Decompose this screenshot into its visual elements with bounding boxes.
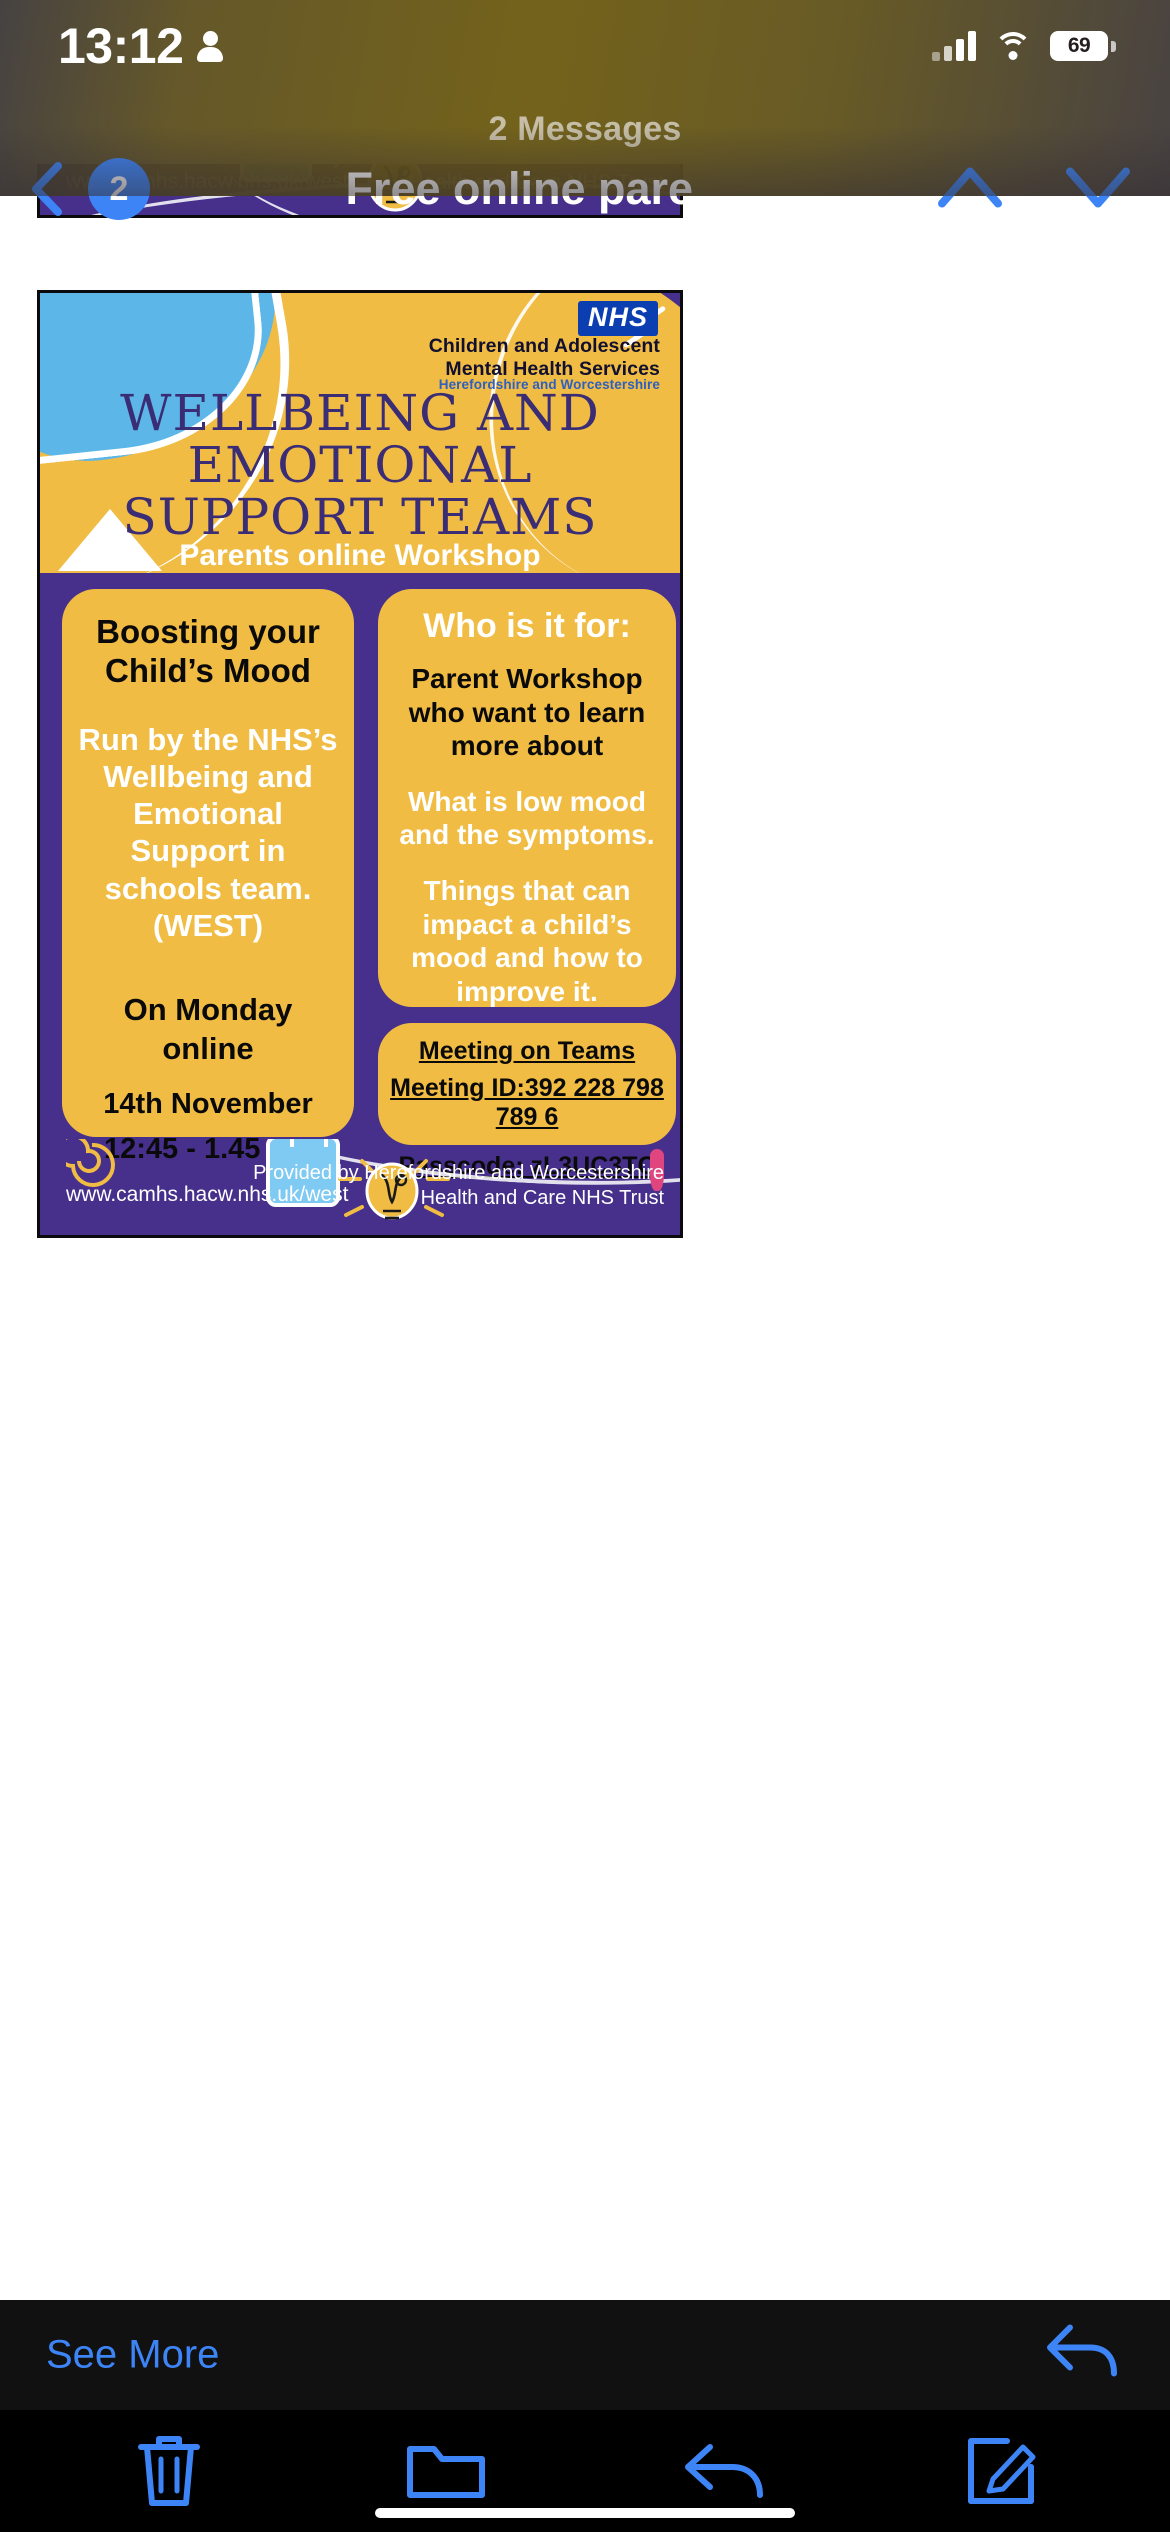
teams-meeting-id: Meeting ID:392 228 798 789 6 — [388, 1074, 666, 1132]
previous-message-button[interactable] — [936, 164, 1004, 215]
organisation-name: Children and Adolescent Mental Health Se… — [429, 335, 660, 381]
right-card-heading: Who is it for: — [390, 607, 664, 646]
next-message-button[interactable] — [1064, 164, 1132, 215]
left-card-heading: Boosting your Child’s Mood — [74, 613, 342, 691]
poster-hero: NHS Children and Adolescent Mental Healt… — [40, 293, 680, 573]
left-info-card: Boosting your Child’s Mood Run by the NH… — [62, 589, 354, 1137]
poster-title: WELLBEING AND EMOTIONAL SUPPORT TEAMS — [40, 387, 680, 543]
compose-icon — [963, 2433, 1039, 2509]
chevron-left-icon — [28, 162, 64, 216]
poster-footer-provided-by: Provided by Herefordshire and Worcesters… — [253, 1161, 664, 1211]
reply-button[interactable] — [681, 2428, 767, 2514]
person-icon — [197, 31, 223, 61]
trash-icon — [133, 2431, 205, 2511]
wifi-icon — [994, 32, 1032, 60]
chevron-down-icon — [1064, 164, 1132, 210]
right-card-point-1: What is low mood and the symptoms. — [390, 785, 664, 852]
poster-footer: www.camhs.hacw.nhs.uk/west Provided by H… — [40, 1139, 680, 1235]
battery-icon: 69 — [1050, 31, 1112, 61]
status-clock: 13:12 — [58, 21, 183, 71]
messages-count-label: 2 Messages — [0, 110, 1170, 149]
phone-screen: www.camhs.hacw.nhs.uk/west Provided by H… — [0, 0, 1170, 2532]
poster-subtitle: Parents online Workshop — [40, 539, 680, 573]
right-info-card: Who is it for: Parent Workshop who want … — [378, 589, 676, 1007]
right-card-intro: Parent Workshop who want to learn more a… — [390, 662, 664, 763]
battery-level: 69 — [1068, 34, 1090, 58]
right-card-point-2: Things that can impact a child’s mood an… — [390, 874, 664, 1008]
status-bar: 13:12 69 — [0, 0, 1170, 92]
reply-button-top[interactable] — [1044, 2322, 1120, 2389]
chevron-up-icon — [936, 164, 1004, 210]
message-body: www.camhs.hacw.nhs.uk/west Provided by H… — [0, 0, 1170, 2300]
reply-arrow-icon — [682, 2439, 766, 2503]
status-left: 13:12 — [58, 21, 223, 71]
top-bar: 13:12 69 2 Messages — [0, 0, 1170, 196]
nhs-logo: NHS — [578, 301, 658, 336]
teams-heading: Meeting on Teams — [388, 1037, 666, 1066]
reply-arrow-icon — [1044, 2322, 1120, 2384]
conversation-title: Free online pare... — [188, 163, 888, 215]
compose-button[interactable] — [958, 2428, 1044, 2514]
delete-button[interactable] — [126, 2428, 212, 2514]
back-button[interactable] — [28, 162, 64, 216]
unread-badge[interactable]: 2 — [88, 158, 150, 220]
status-right: 69 — [932, 31, 1112, 61]
home-indicator[interactable] — [375, 2508, 795, 2518]
left-card-runby: Run by the NHS’s Wellbeing and Emotional… — [74, 721, 342, 944]
folder-icon — [404, 2437, 488, 2505]
nav-bar: 2 Free online pare... — [0, 150, 1170, 228]
move-to-folder-button[interactable] — [403, 2428, 489, 2514]
attachment-poster[interactable]: NHS Children and Adolescent Mental Healt… — [37, 290, 683, 1238]
teams-meeting-card: Meeting on Teams Meeting ID:392 228 798 … — [378, 1023, 676, 1145]
cellular-signal-icon — [932, 31, 976, 61]
see-more-bar: See More — [0, 2300, 1170, 2410]
see-more-button[interactable]: See More — [46, 2333, 219, 2378]
